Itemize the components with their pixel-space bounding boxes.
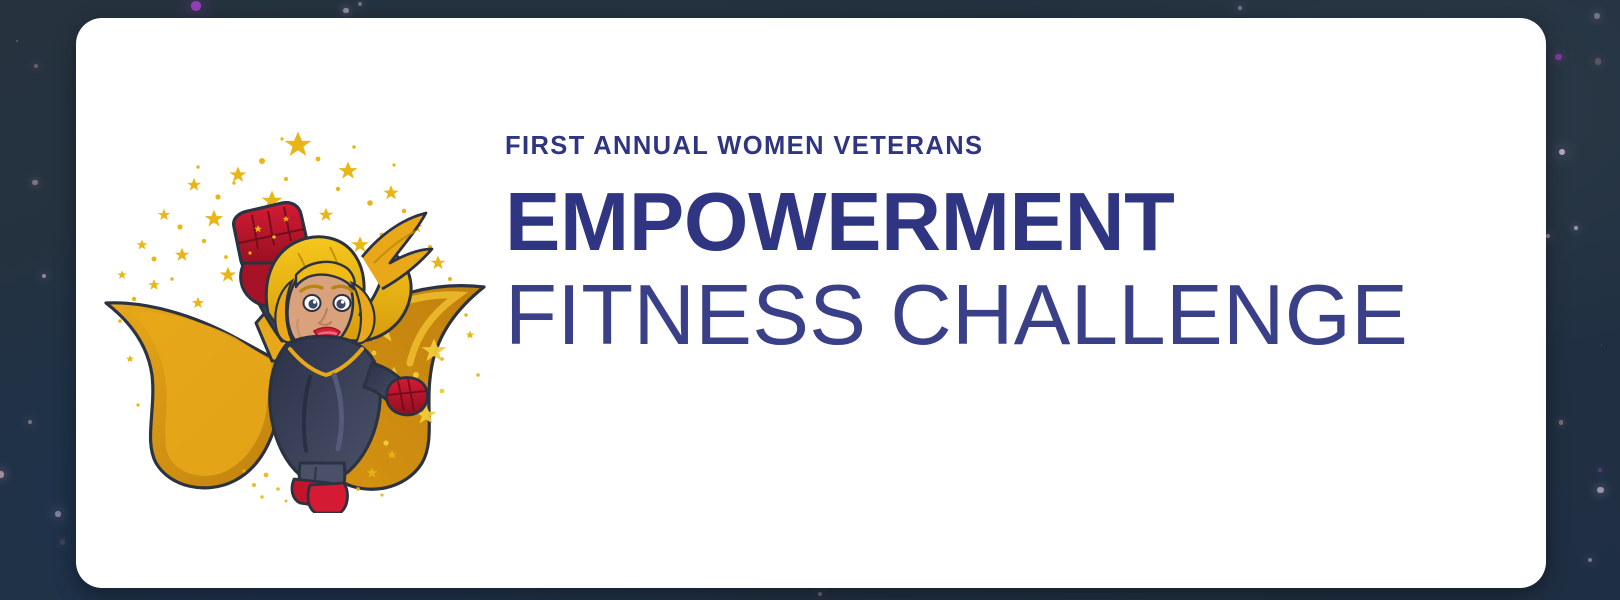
background-star-dot [42, 274, 46, 278]
background-star-dot [1588, 558, 1593, 563]
background-star-dot [358, 2, 362, 6]
background-star-dot [1597, 487, 1604, 494]
background-star-dot [1574, 226, 1578, 230]
background-star-dot [34, 64, 38, 68]
background-star-dot [343, 8, 348, 13]
background-star-dot [60, 539, 66, 545]
headline-sub: FITNESS CHALLENGE [505, 272, 1505, 360]
background-star-dot [28, 420, 33, 425]
background-star-dot [1595, 58, 1601, 64]
white-banner-card: FIRST ANNUAL WOMEN VETERANS EMPOWERMENT … [76, 18, 1546, 588]
background-star-dot [1601, 344, 1603, 346]
background-star-dot [818, 592, 822, 596]
background-star-dot [0, 471, 4, 478]
background-star-dot [191, 1, 200, 10]
background-star-dot [1594, 13, 1600, 19]
flying-woman-superhero-illustration [86, 123, 506, 513]
background-star-dot [1559, 420, 1564, 425]
background-star-dot [1555, 54, 1562, 61]
eyebrow-line: FIRST ANNUAL WOMEN VETERANS [505, 134, 1505, 160]
background-star-dot [1546, 234, 1550, 238]
headline-main: EMPOWERMENT [505, 180, 1505, 265]
background-star-dot [55, 511, 60, 516]
background-star-dot [1559, 149, 1566, 156]
banner-root: FIRST ANNUAL WOMEN VETERANS EMPOWERMENT … [0, 0, 1620, 600]
background-star-dot [1598, 468, 1602, 472]
background-star-dot [16, 40, 18, 42]
background-star-dot [1238, 6, 1242, 10]
background-star-dot [32, 180, 37, 185]
headline-text-block: FIRST ANNUAL WOMEN VETERANS EMPOWERMENT … [505, 134, 1505, 361]
